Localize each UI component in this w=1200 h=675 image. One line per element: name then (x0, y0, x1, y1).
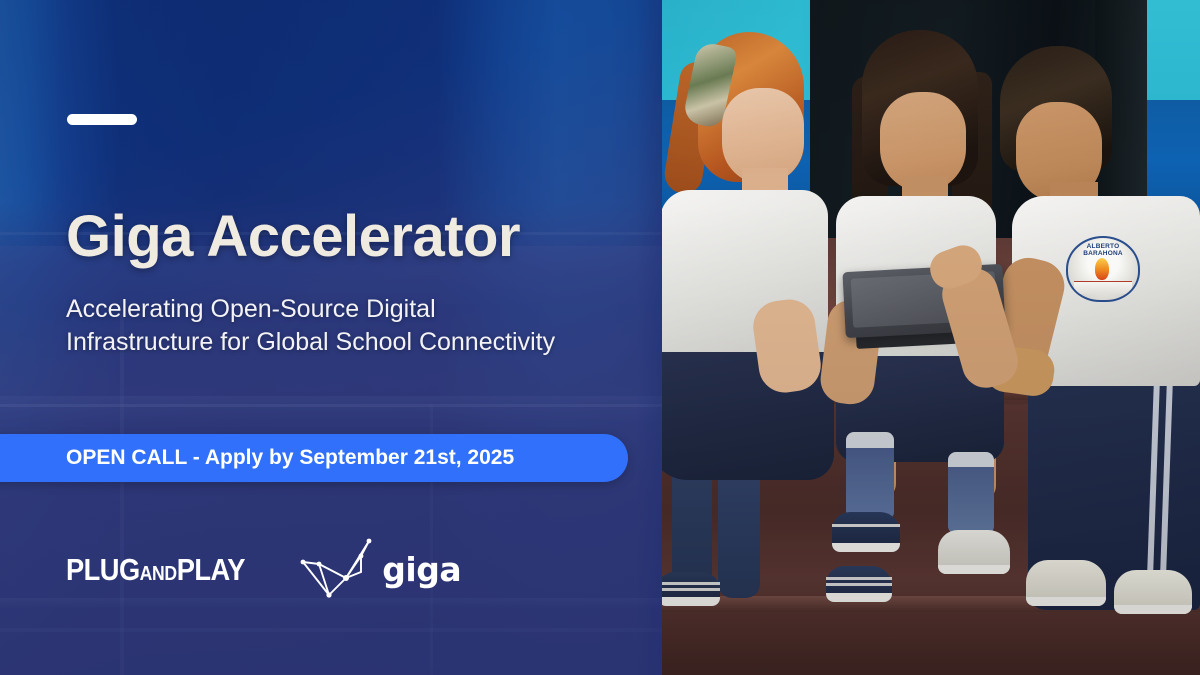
shoe-stripe-icon (658, 582, 720, 585)
plug-and-play-part-1: PLUG (66, 554, 140, 585)
page-title: Giga Accelerator (66, 207, 646, 268)
flame-icon (1095, 258, 1109, 280)
student-center-sock-right (948, 452, 994, 534)
shoe-sole (832, 543, 900, 552)
open-call-cta-banner[interactable]: OPEN CALL - Apply by September 21st, 202… (0, 434, 628, 482)
shoe-sole (826, 593, 892, 602)
giga-bird-network-mark (299, 538, 373, 600)
student-left-shoe-right (826, 566, 892, 602)
banner-content: Giga Accelerator Accelerating Open-Sourc… (0, 0, 662, 675)
plug-and-play-part-3: PLAY (177, 554, 245, 585)
student-center-shoe-left (832, 512, 900, 552)
logo-lockup-row: PLUG AND PLAY (66, 540, 461, 598)
page-subtitle: Accelerating Open-Source Digital Infrast… (66, 293, 566, 359)
school-crest-banner (1074, 281, 1132, 294)
shoe-sole (1026, 597, 1106, 606)
school-crest-label: ALBERTO BARAHONA (1068, 243, 1138, 257)
shoe-stripe-icon (658, 588, 720, 591)
student-right-shoe-left (1026, 560, 1106, 606)
shoe-sole (1114, 605, 1192, 614)
student-center-sock-left (846, 432, 894, 520)
giga-wordmark: giga (382, 553, 461, 586)
shoe-sole (658, 597, 720, 606)
shoe-stripe-icon (826, 577, 892, 580)
shoe-stripe-icon (832, 524, 900, 527)
student-right-shoe-right (1114, 570, 1192, 614)
shoe-sole (938, 565, 1010, 574)
plug-and-play-logo[interactable]: PLUG AND PLAY (66, 554, 245, 585)
giga-accelerator-banner: ALBERTO BARAHONA Giga Acce (0, 0, 1200, 675)
giga-logo[interactable]: giga (299, 538, 461, 600)
plug-and-play-part-2: AND (140, 564, 177, 584)
accent-rule (67, 114, 137, 125)
student-left-shoe-left (658, 572, 720, 606)
student-center-shoe-right (938, 530, 1010, 574)
shoe-stripe-icon (826, 583, 892, 586)
open-call-cta-label: OPEN CALL - Apply by September 21st, 202… (66, 434, 514, 482)
school-crest-badge: ALBERTO BARAHONA (1066, 236, 1140, 302)
